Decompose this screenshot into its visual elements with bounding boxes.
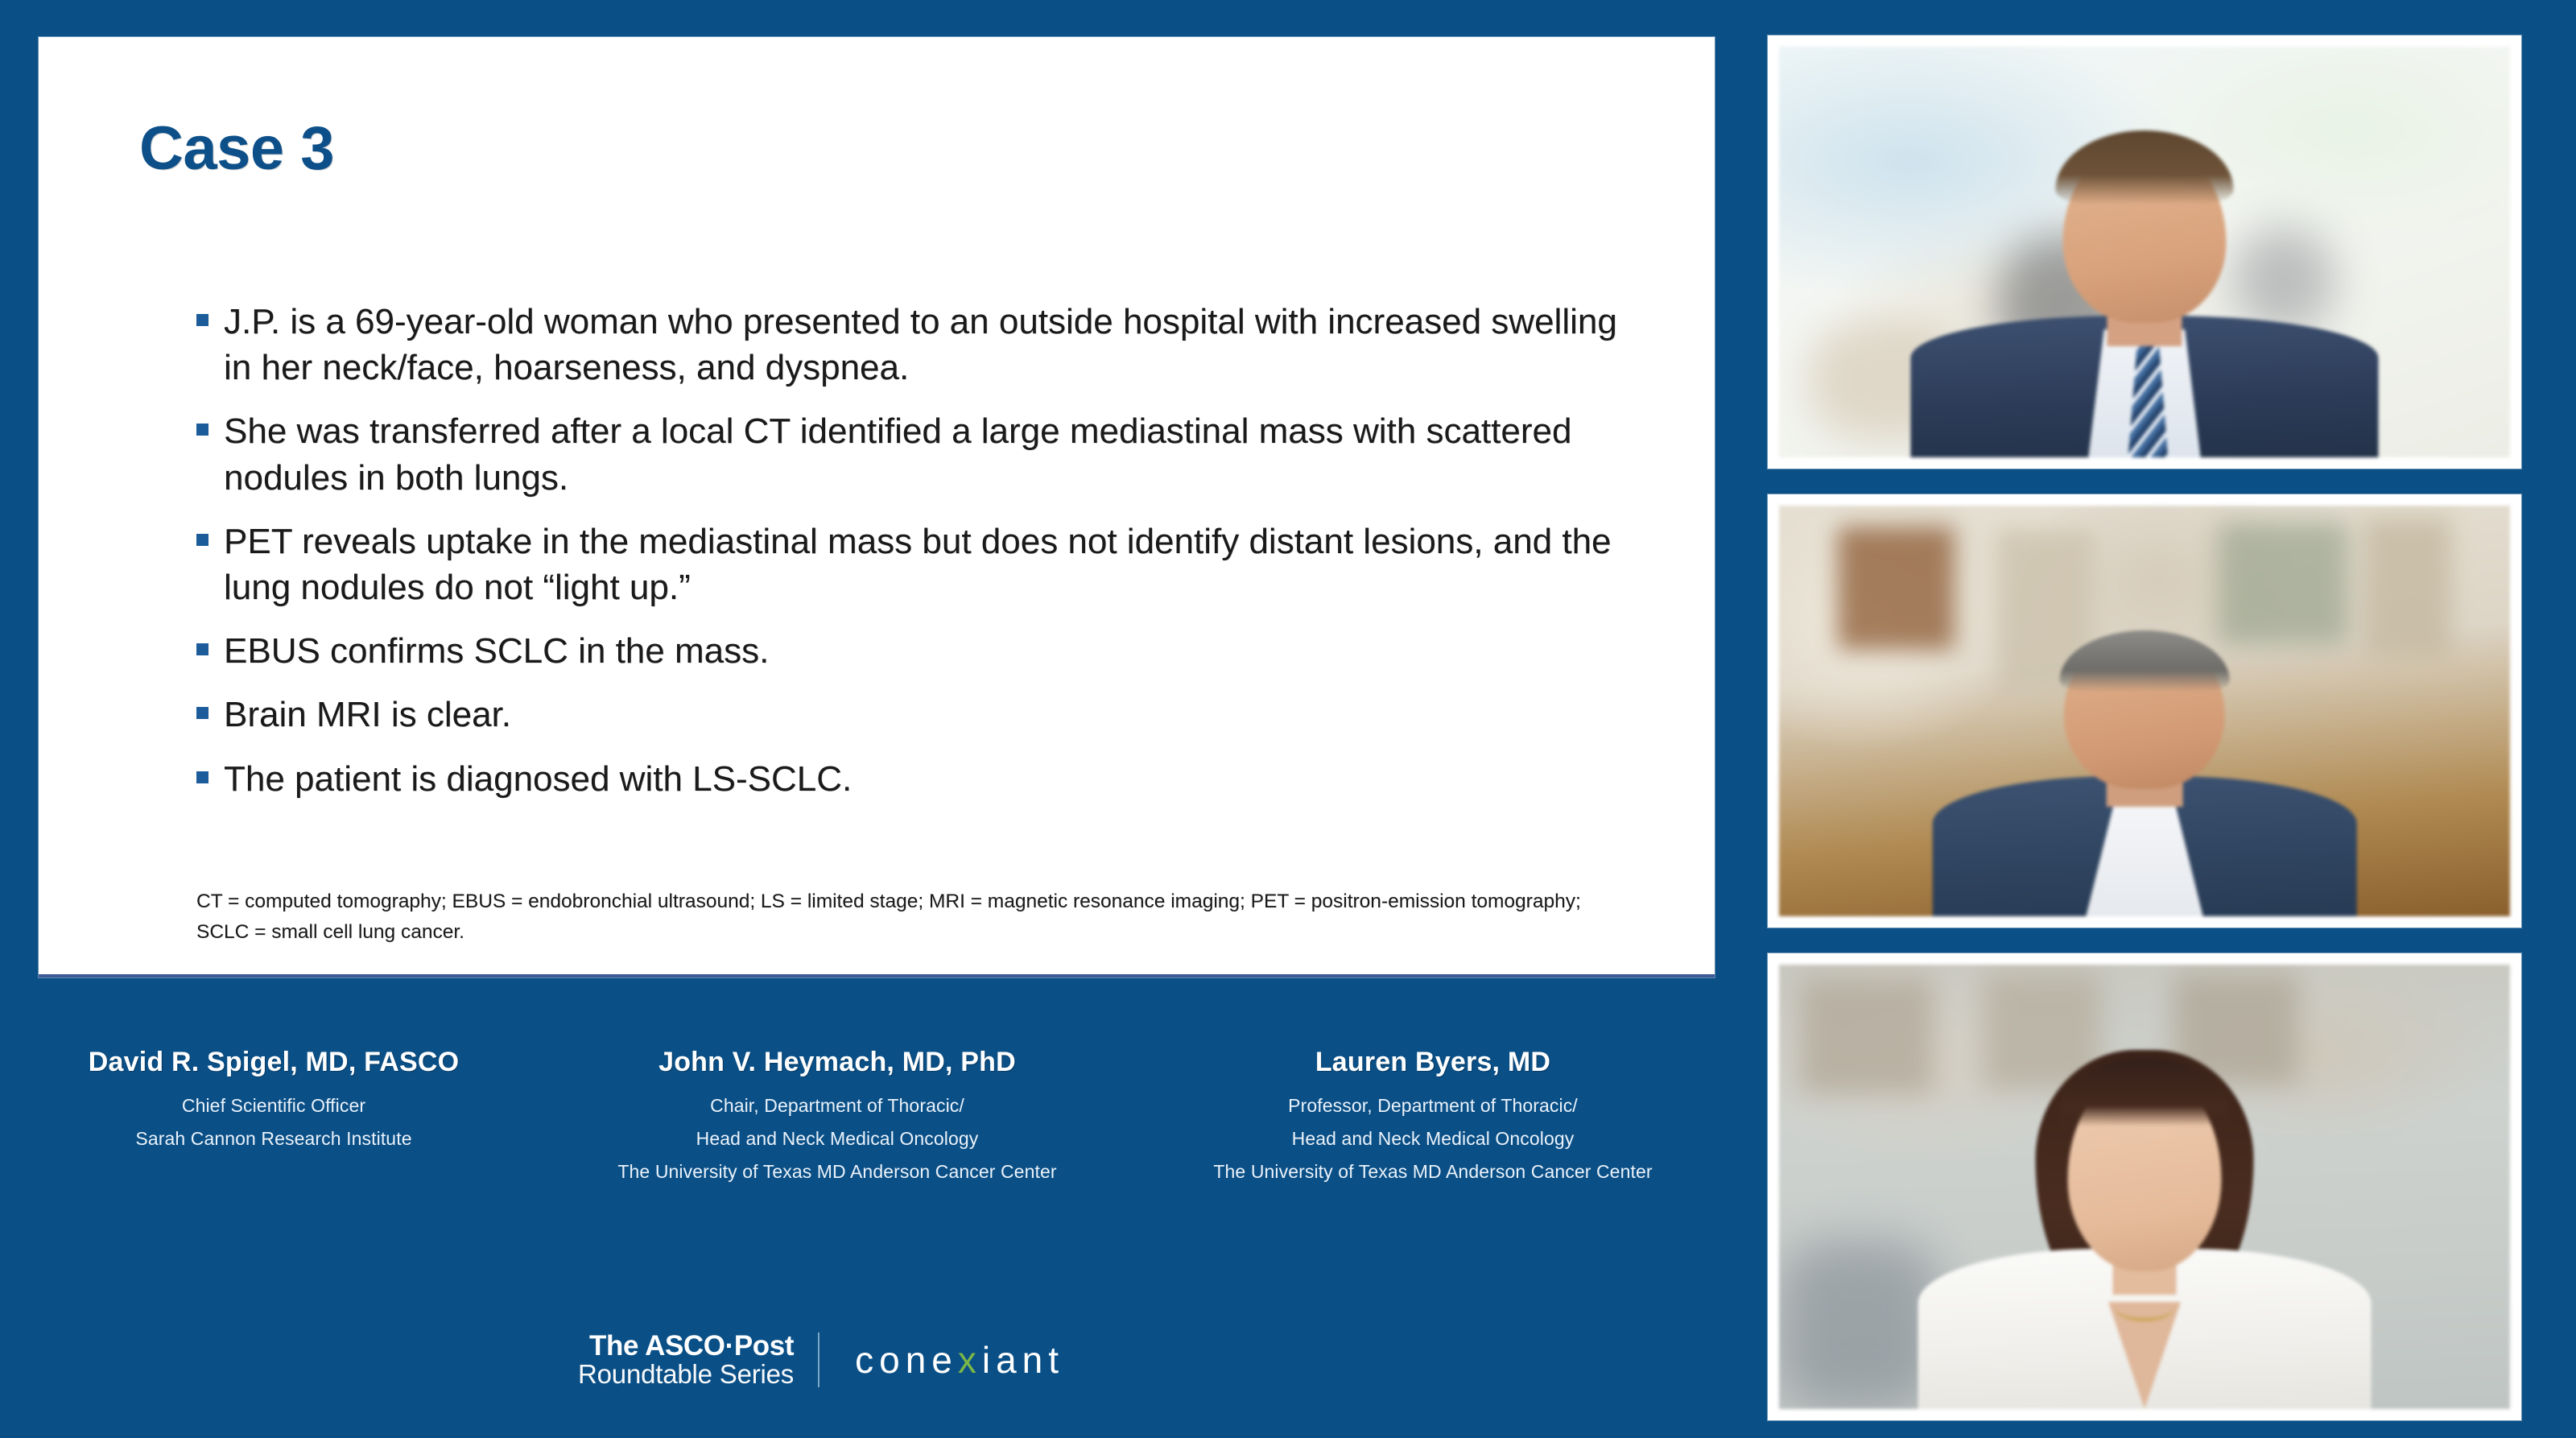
participant-video-column bbox=[1768, 35, 2521, 1404]
webinar-stage: Case 3 J.P. is a 69-year-old woman who p… bbox=[0, 0, 2576, 1438]
presenter-block: David R. Spigel, MD, FASCO Chief Scienti… bbox=[0, 1047, 547, 1155]
slide-bullet: The patient is diagnosed with LS-SCLC. bbox=[196, 756, 1645, 802]
slide-bullet: J.P. is a 69-year-old woman who presente… bbox=[196, 299, 1645, 390]
participant-hair bbox=[2060, 630, 2230, 691]
video-tile-spigel[interactable] bbox=[1768, 35, 2521, 469]
video-feed bbox=[1779, 965, 2510, 1409]
background-blur-shape bbox=[1779, 1240, 1940, 1409]
participant-figure bbox=[1918, 1027, 2372, 1409]
conexiant-x-glyph: x bbox=[958, 1339, 982, 1381]
presenter-block: Lauren Byers, MD Professor, Department o… bbox=[1151, 1047, 1715, 1188]
presenter-title-cont: Head and Neck Medical Oncology bbox=[555, 1122, 1119, 1155]
slide-bullet: Brain MRI is clear. bbox=[196, 692, 1645, 738]
slide-bullet: PET reveals uptake in the mediastinal ma… bbox=[196, 519, 1645, 610]
conexiant-text-start: cone bbox=[855, 1339, 958, 1381]
roundtable-series-wordmark: Roundtable Series bbox=[578, 1361, 794, 1388]
presenter-title: Chair, Department of Thoracic/ bbox=[555, 1089, 1119, 1122]
logo-divider bbox=[818, 1333, 819, 1387]
presenter-name: David R. Spigel, MD, FASCO bbox=[0, 1047, 547, 1078]
presenter-name: Lauren Byers, MD bbox=[1151, 1047, 1715, 1078]
slide-bullet: EBUS confirms SCLC in the mass. bbox=[196, 628, 1645, 674]
presenter-title: Professor, Department of Thoracic/ bbox=[1151, 1089, 1715, 1122]
video-feed bbox=[1779, 47, 2510, 457]
video-tile-byers[interactable] bbox=[1768, 953, 2521, 1420]
presentation-slide[interactable]: Case 3 J.P. is a 69-year-old woman who p… bbox=[39, 37, 1715, 977]
video-tile-heymach[interactable] bbox=[1768, 494, 2521, 928]
presenter-credits: David R. Spigel, MD, FASCO Chief Scienti… bbox=[0, 1047, 1723, 1208]
slide-bullet-list: J.P. is a 69-year-old woman who presente… bbox=[196, 299, 1645, 820]
participant-figure bbox=[1933, 613, 2357, 916]
background-blur-shape bbox=[2363, 518, 2451, 657]
participant-hair bbox=[2056, 130, 2234, 205]
presenter-name: John V. Heymach, MD, PhD bbox=[555, 1047, 1119, 1078]
slide-title: Case 3 bbox=[139, 114, 334, 184]
branding-bar: The ASCO·Post Roundtable Series conexian… bbox=[578, 1327, 1064, 1393]
presenter-affiliation: The University of Texas MD Anderson Canc… bbox=[555, 1155, 1119, 1188]
video-feed bbox=[1779, 506, 2510, 916]
participant-necklace bbox=[2115, 1295, 2173, 1321]
participant-figure bbox=[1910, 121, 2378, 457]
slide-abbreviations-footnote: CT = computed tomography; EBUS = endobro… bbox=[196, 886, 1581, 948]
slide-bullet: She was transferred after a local CT ide… bbox=[196, 408, 1645, 500]
presenter-affiliation: Sarah Cannon Research Institute bbox=[0, 1122, 547, 1155]
presenter-block: John V. Heymach, MD, PhD Chair, Departme… bbox=[555, 1047, 1119, 1188]
presenter-affiliation: The University of Texas MD Anderson Canc… bbox=[1151, 1155, 1715, 1188]
presenter-title-cont: Head and Neck Medical Oncology bbox=[1151, 1122, 1715, 1155]
background-blur-shape bbox=[1801, 978, 1932, 1094]
asco-post-logo: The ASCO·Post Roundtable Series bbox=[578, 1332, 818, 1387]
presenter-title: Chief Scientific Officer bbox=[0, 1089, 547, 1122]
conexiant-logo: conexiant bbox=[819, 1338, 1064, 1382]
asco-post-wordmark: The ASCO·Post bbox=[578, 1332, 794, 1361]
conexiant-text-end: iant bbox=[982, 1339, 1064, 1381]
